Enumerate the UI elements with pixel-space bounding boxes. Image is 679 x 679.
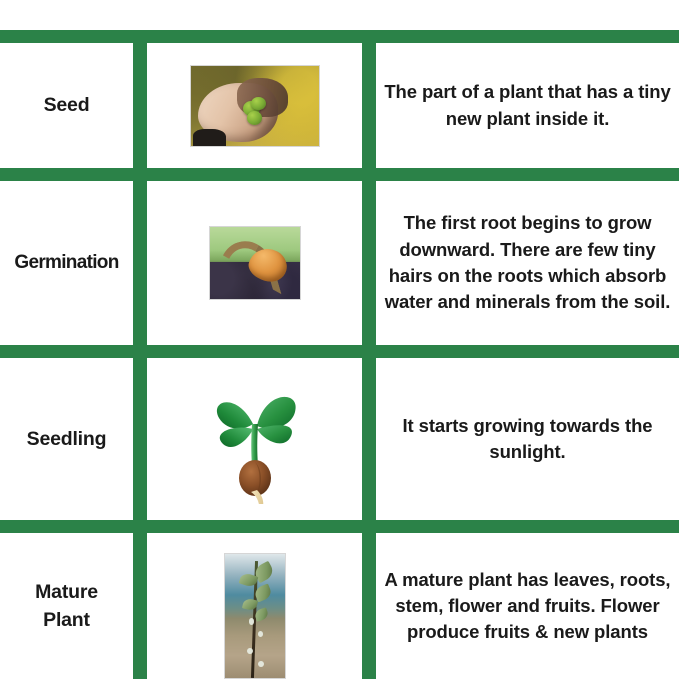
plant-life-cycle-table: Seed The part of a plant that has a tiny… (0, 0, 679, 679)
flower-shape (249, 618, 254, 624)
grid-line-vertical-2 (362, 30, 376, 679)
stage-description: The first root begins to grow downward. … (376, 210, 679, 315)
seed-dot (247, 111, 262, 125)
table-row-4-image-cell (147, 533, 362, 679)
table-row-3-description-cell: It starts growing towards the sunlight. (376, 358, 679, 520)
flower-shape (258, 661, 264, 667)
table-row-3-stage-cell: Seedling (0, 358, 133, 520)
grid-line-horizontal-2 (0, 345, 679, 358)
table-row-1-description-cell: The part of a plant that has a tiny new … (376, 43, 679, 168)
mature-plant-photo (224, 553, 286, 679)
table-row-2-image-cell (147, 181, 362, 345)
grid-line-horizontal-1 (0, 168, 679, 181)
grid-line-horizontal-top (0, 30, 679, 43)
seed-photo (190, 65, 320, 147)
stage-label: Seedling (26, 425, 108, 453)
table-row-4-stage-cell: Mature Plant (0, 533, 133, 679)
stage-label: Seed (43, 91, 91, 119)
seedling-svg (193, 374, 317, 504)
stage-label: Germination (13, 249, 119, 277)
flower-shape (258, 631, 263, 637)
grid-line-horizontal-3 (0, 520, 679, 533)
stage-description: A mature plant has leaves, roots, stem, … (376, 567, 679, 646)
table-row-1-image-cell (147, 43, 362, 168)
germination-photo (209, 226, 301, 300)
seedling-illustration (193, 374, 317, 504)
table-row-2-stage-cell: Germination (0, 181, 133, 345)
stage-description: It starts growing towards the sunlight. (376, 413, 679, 466)
table-row-2-description-cell: The first root begins to grow downward. … (376, 181, 679, 345)
stage-label: Mature Plant (34, 578, 99, 635)
grid-line-vertical-1 (133, 30, 147, 679)
table-row-3-image-cell (147, 358, 362, 520)
sleeve-shape (193, 129, 226, 147)
table-row-1-stage-cell: Seed (0, 43, 133, 168)
stage-description: The part of a plant that has a tiny new … (376, 79, 679, 132)
table-row-4-description-cell: A mature plant has leaves, roots, stem, … (376, 533, 679, 679)
